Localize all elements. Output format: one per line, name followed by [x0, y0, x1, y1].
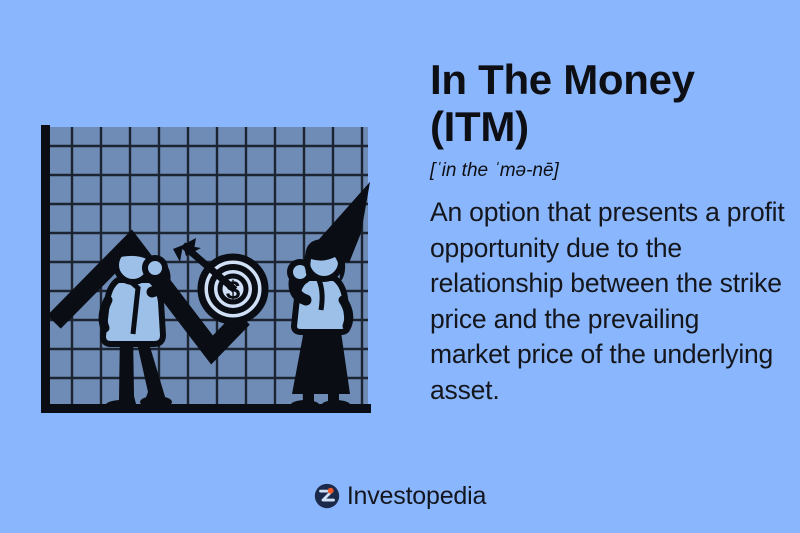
y-axis: [41, 125, 50, 413]
brand-name: Investopedia: [347, 483, 486, 509]
stock-chart-illustration: $: [0, 0, 400, 480]
pronunciation-text: [ˈin the ˈmə-nē]: [430, 160, 785, 182]
investopedia-logo-icon: [314, 483, 340, 509]
definition-card: $: [0, 0, 800, 533]
page-title: In The Money (ITM): [430, 56, 785, 150]
definition-text: An option that presents a profit opportu…: [430, 195, 785, 408]
brand-footer: Investopedia: [0, 483, 800, 509]
definition-text-column: In The Money (ITM) [ˈin the ˈmə-nē] An o…: [430, 56, 785, 408]
female-investor-figure: [290, 239, 351, 412]
